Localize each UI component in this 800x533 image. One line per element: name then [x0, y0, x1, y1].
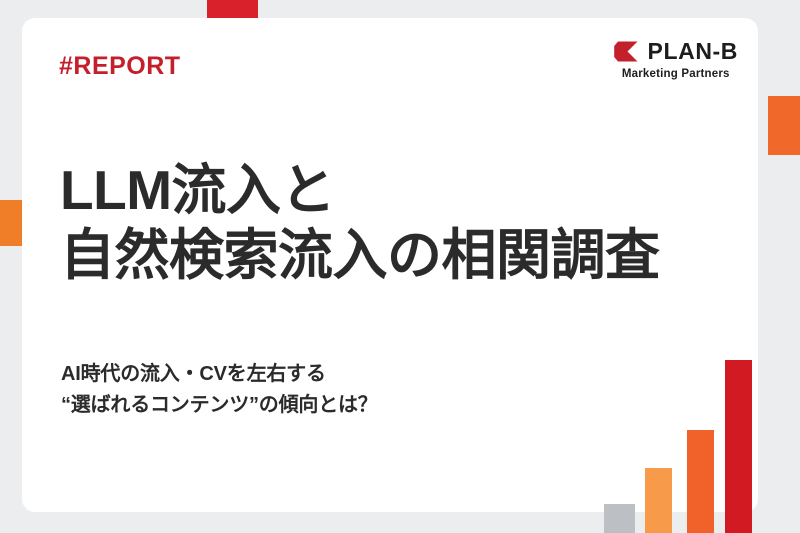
brand-logo: PLAN-B Marketing Partners	[614, 40, 738, 81]
bar-2	[645, 468, 672, 533]
page-subtitle: AI時代の流入・CVを左右する “選ばれるコンテンツ”の傾向とは？	[61, 359, 581, 421]
accent-block-left-orange	[0, 200, 22, 246]
bar-1	[604, 504, 635, 533]
page-title-line-2: 自然検索流入の相関調査	[60, 223, 740, 288]
accent-block-top-red	[207, 0, 258, 18]
plan-b-chevron-mark-icon	[614, 41, 641, 62]
report-tag: #REPORT	[59, 54, 181, 79]
page-subtitle-line-1: AI時代の流入・CVを左右する	[61, 359, 581, 390]
bar-3	[687, 430, 714, 533]
page-subtitle-line-2: “選ばれるコンテンツ”の傾向とは？	[61, 390, 581, 421]
report-cover-slide: #REPORT PLAN-B Marketing Partners LLM流入と…	[0, 0, 800, 533]
decorative-bar-chart	[600, 353, 760, 533]
page-title-line-1: LLM流入と	[60, 158, 740, 223]
page-title: LLM流入と 自然検索流入の相関調査	[60, 158, 740, 288]
logo-wordmark: PLAN-B	[648, 40, 738, 63]
accent-block-right-orange	[768, 96, 800, 155]
logo-row: PLAN-B	[614, 40, 738, 63]
logo-tagline: Marketing Partners	[622, 69, 730, 81]
bar-4	[725, 360, 752, 533]
